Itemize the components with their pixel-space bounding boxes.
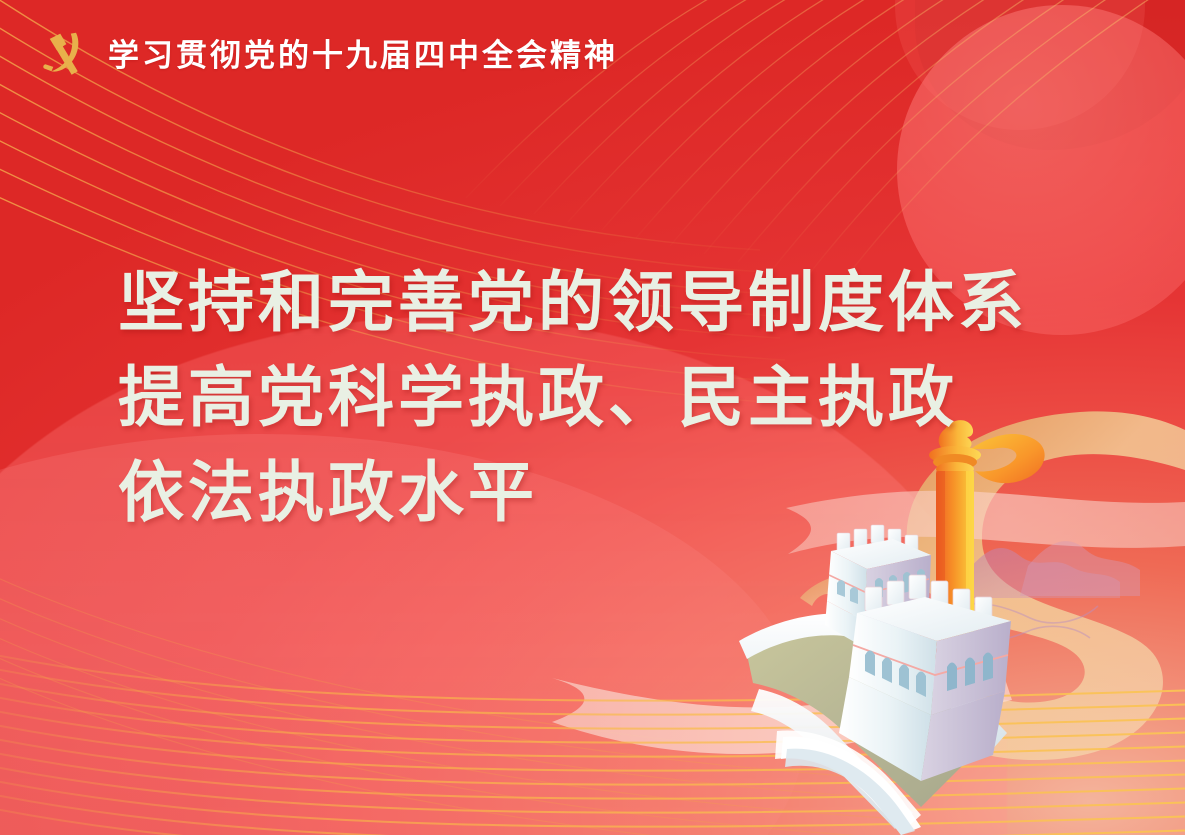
header-title: 学习贯彻党的十九届四中全会精神 [108,30,618,75]
poster-canvas: 学习贯彻党的十九届四中全会精神 坚持和完善党的领导制度体系 提高党科学执政、民主… [0,0,1185,835]
headline-line-2: 提高党科学执政、民主执政 [118,351,1028,446]
headline-block: 坚持和完善党的领导制度体系 提高党科学执政、民主执政 依法执政水平 [118,256,1028,541]
headline-line-3: 依法执政水平 [118,446,1028,541]
header: 学习贯彻党的十九届四中全会精神 [34,24,618,80]
party-emblem-hammer-sickle-icon [34,24,90,80]
headline-line-1: 坚持和完善党的领导制度体系 [118,256,1028,351]
